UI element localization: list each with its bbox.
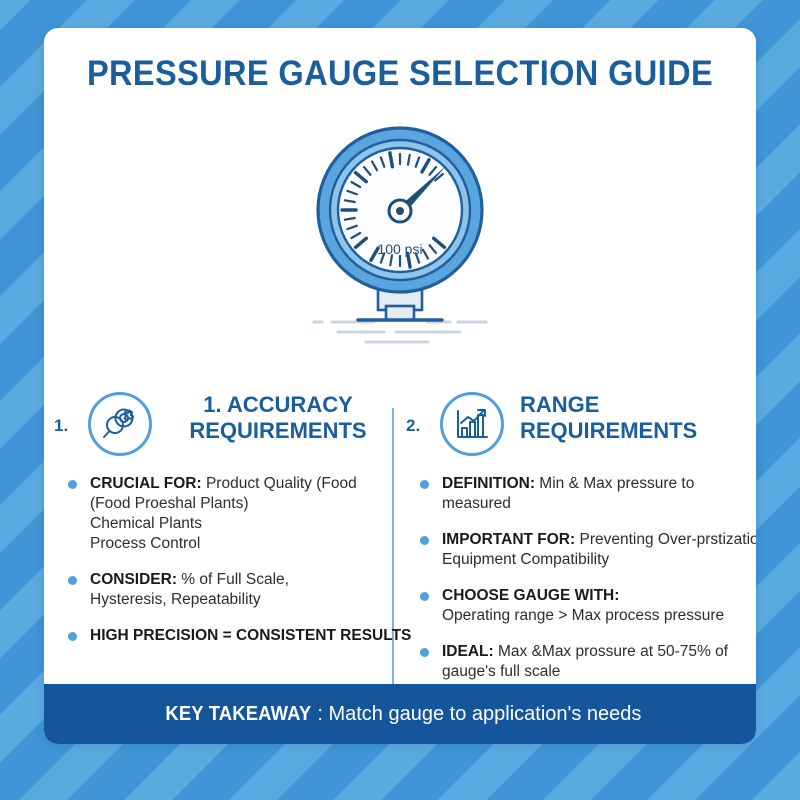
bullet-line: (Food Proeshal Plants) xyxy=(90,494,397,514)
bullet-rest: Max &Max prossure at 50-75% of xyxy=(494,643,728,660)
page-title: PRESSURE GAUGE SELECTION GUIDE xyxy=(69,54,731,94)
bullet-lead: CRUCIAL FOR: xyxy=(90,475,202,492)
bullet-list-range: DEFINITION: Min & Max pressure to measur… xyxy=(404,474,749,682)
column-title-range: RANGE REQUIREMENTS xyxy=(520,392,748,444)
gauge-stem xyxy=(386,306,414,320)
column-range: 2. RANGE R xyxy=(404,378,749,698)
bullet-lead: CHOOSE GAUGE WITH: xyxy=(442,587,619,604)
bullet-rest: Preventing Over-prstization, xyxy=(575,531,756,548)
bullet-lead: IMPORTANT FOR: xyxy=(442,531,575,548)
bullet-high-precision: HIGH PRECISION = CONSISTENT RESULTS xyxy=(62,626,397,646)
pressure-gauge-illustration: 100 psi xyxy=(300,114,500,354)
bullet-consider: CONSIDER: % of Full Scale, Hysteresis, R… xyxy=(62,570,397,610)
column-number-1: 1. xyxy=(54,416,68,436)
bullet-rest: Min & Max pressure to xyxy=(535,475,694,492)
bullet-crucial-for: CRUCIAL FOR: Product Quality (Food (Food… xyxy=(62,474,397,554)
bullet-line: Equipment Compatibility xyxy=(442,550,749,570)
bar-chart-growth-glyph xyxy=(452,404,492,444)
bullet-line: Operating range > Max process pressure xyxy=(442,606,749,626)
bullet-line: Chemical Plants xyxy=(90,514,397,534)
key-takeaway-label: KEY TAKEAWAY xyxy=(165,703,311,726)
key-takeaway-banner: KEY TAKEAWAY: Match gauge to application… xyxy=(44,684,756,744)
column-accuracy: 1. 1. ACCURACY REQUIREMENTS xyxy=(52,378,397,662)
bullet-lead: DEFINITION: xyxy=(442,475,535,492)
content-card: PRESSURE GAUGE SELECTION GUIDE xyxy=(44,28,756,744)
infographic-canvas: PRESSURE GAUGE SELECTION GUIDE xyxy=(0,0,800,800)
gauge-reading-label: 100 psi xyxy=(377,241,422,257)
bar-chart-growth-icon xyxy=(440,392,504,456)
column-number-2: 2. xyxy=(406,416,420,436)
column-header-accuracy: 1. 1. ACCURACY REQUIREMENTS xyxy=(52,378,397,464)
bullet-lead: CONSIDER: xyxy=(90,571,177,588)
bullet-choose-gauge-with: CHOOSE GAUGE WITH: Operating range > Max… xyxy=(414,586,749,626)
gauge-needle-center xyxy=(396,207,404,215)
magnifier-gear-icon xyxy=(88,392,152,456)
bullet-line: measured xyxy=(442,494,749,514)
bullet-rest: Product Quality (Food xyxy=(202,475,357,492)
bullet-line: Hysteresis, Repeatability xyxy=(90,590,397,610)
magnifier-gear-glyph xyxy=(100,404,140,444)
bullet-definition: DEFINITION: Min & Max pressure to measur… xyxy=(414,474,749,514)
column-title-accuracy: 1. ACCURACY REQUIREMENTS xyxy=(164,392,392,444)
bullet-lead: HIGH PRECISION = CONSISTENT RESULTS xyxy=(90,627,411,644)
gauge-svg: 100 psi xyxy=(300,114,500,354)
gauge-shadow-lines xyxy=(314,322,486,342)
bullet-rest: % of Full Scale, xyxy=(177,571,289,588)
bullet-important-for: IMPORTANT FOR: Preventing Over-prstizati… xyxy=(414,530,749,570)
column-header-range: 2. RANGE R xyxy=(404,378,749,464)
bullet-line: gauge's full scale xyxy=(442,662,749,682)
key-takeaway-text: : Match gauge to application's needs xyxy=(317,703,641,726)
columns-container: 1. 1. ACCURACY REQUIREMENTS xyxy=(44,378,756,698)
bullet-line: Process Control xyxy=(90,534,397,554)
bullet-list-accuracy: CRUCIAL FOR: Product Quality (Food (Food… xyxy=(52,474,397,646)
bullet-ideal: IDEAL: Max &Max prossure at 50-75% of ga… xyxy=(414,642,749,682)
bullet-lead: IDEAL: xyxy=(442,643,494,660)
